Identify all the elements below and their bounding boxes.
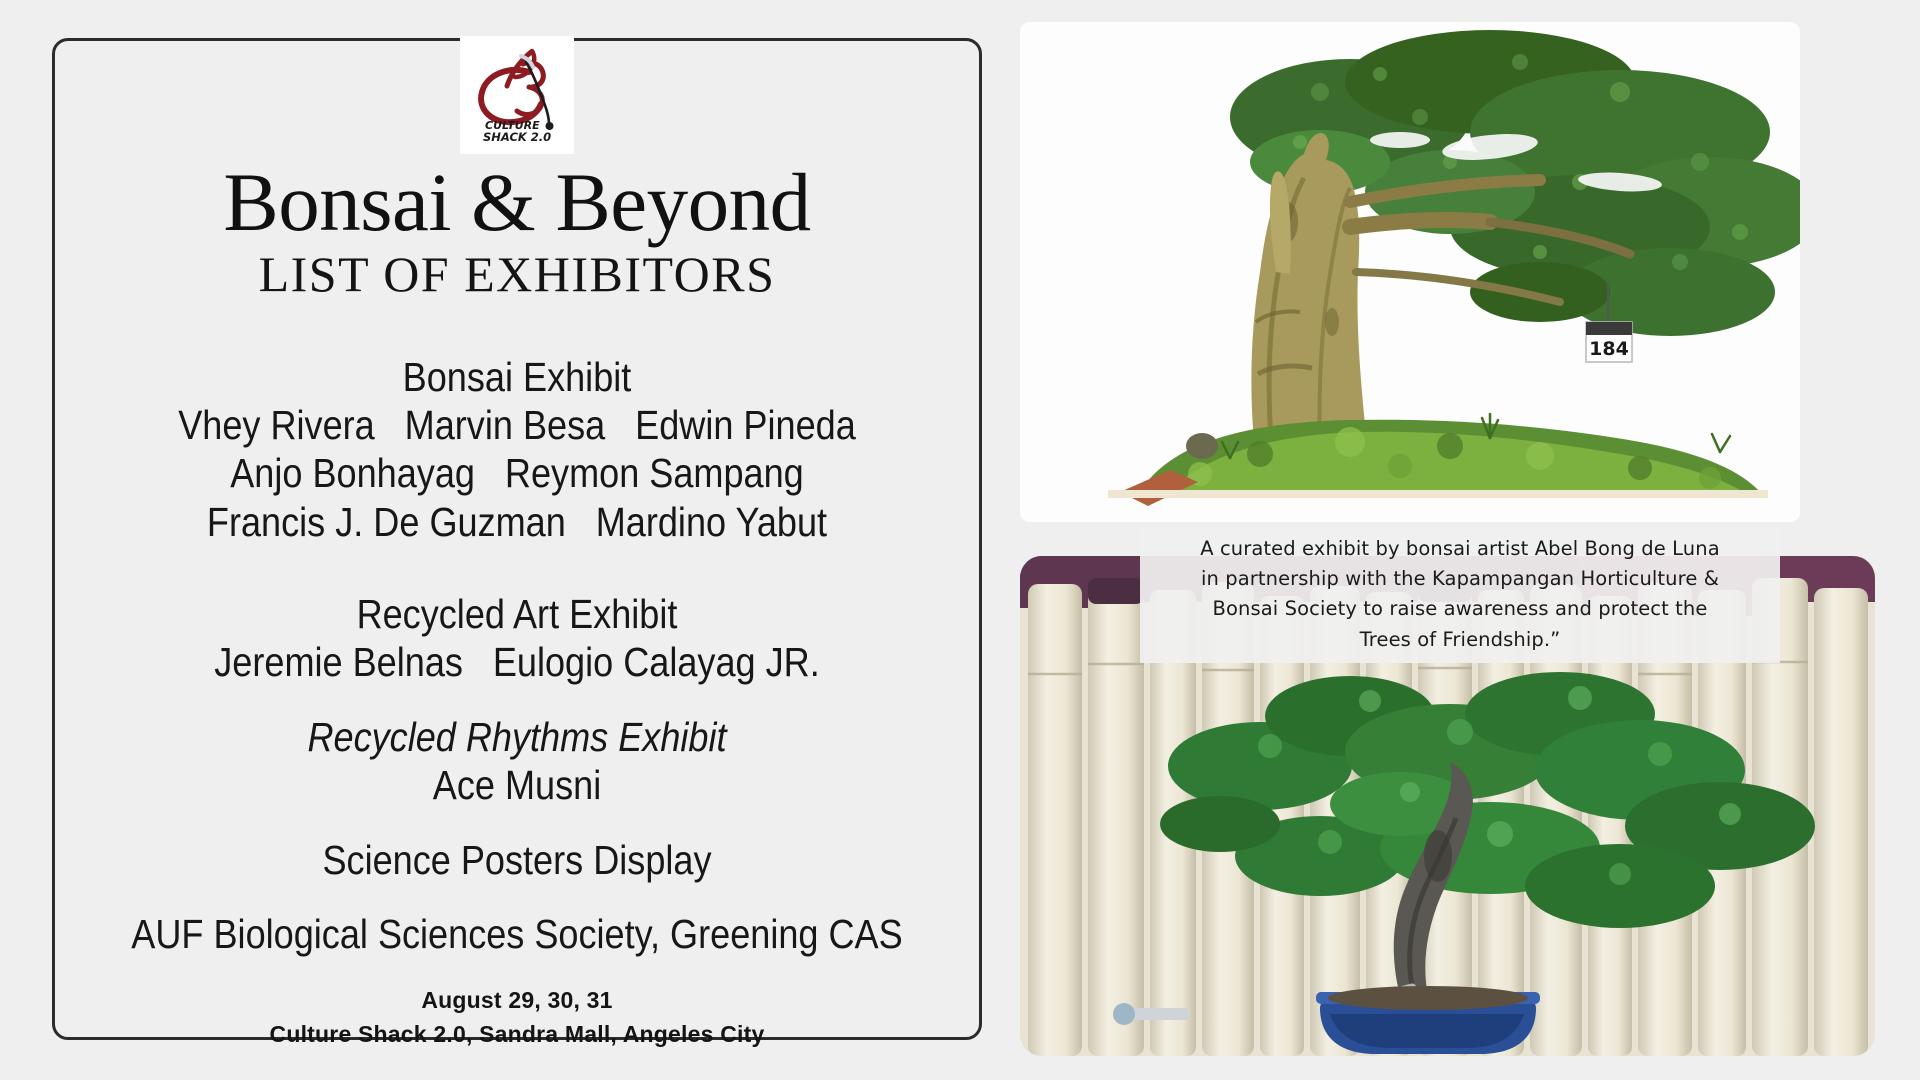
section-bonsai-exhibit: Bonsai Exhibit Vhey RiveraMarvin BesaEdw…: [55, 353, 979, 547]
caption-line: Trees of Friendship.”: [1150, 625, 1770, 655]
exhibit-tag-number: 184: [1589, 338, 1629, 360]
exhibit-tag: 184: [1586, 322, 1632, 362]
exhibitor-name: Reymon Sampang: [505, 450, 804, 496]
exhibitor-name: Francis J. De Guzman: [207, 499, 566, 545]
exhibitor-name: Vhey Rivera: [178, 402, 375, 448]
section-heading: Recycled Rhythms Exhibit: [110, 713, 923, 761]
right-column: 184: [1010, 0, 1920, 1080]
exhibitor-row: Jeremie BelnasEulogio Calayag JR.: [110, 638, 923, 686]
exhibitor-row: Anjo BonhayagReymon Sampang: [110, 449, 923, 497]
left-column: CULTURE SHACK 2.0 Bonsai & Beyond LIST O…: [0, 0, 1010, 1080]
exhibitor-name: Eulogio Calayag JR.: [493, 639, 820, 685]
page-title: Bonsai & Beyond: [55, 161, 979, 244]
event-dates: August 29, 30, 31: [55, 984, 979, 1017]
exhibitor-row: Vhey RiveraMarvin BesaEdwin Pineda: [110, 401, 923, 449]
panel-content: Bonsai & Beyond LIST OF EXHIBITORS Bonsa…: [55, 161, 979, 1051]
exhibitor-name: Mardino Yabut: [596, 499, 827, 545]
exhibitor-name: AUF Biological Sciences Society, Greenin…: [131, 911, 902, 957]
exhibitor-row: Francis J. De GuzmanMardino Yabut: [110, 498, 923, 546]
poster-root: CULTURE SHACK 2.0 Bonsai & Beyond LIST O…: [0, 0, 1920, 1080]
section-recycled-art-exhibit: Recycled Art Exhibit Jeremie BelnasEulog…: [55, 590, 979, 687]
exhibitor-row: Ace Musni: [110, 761, 923, 809]
page-subtitle: LIST OF EXHIBITORS: [55, 248, 979, 301]
exhibitor-name: Ace Musni: [433, 762, 601, 808]
caption-line: in partnership with the Kapampangan Hort…: [1150, 564, 1770, 594]
caption-line: Bonsai Society to raise awareness and pr…: [1150, 594, 1770, 624]
exhibitor-name: Anjo Bonhayag: [230, 450, 475, 496]
section-heading: Bonsai Exhibit: [110, 353, 923, 401]
exhibitor-row: AUF Biological Sciences Society, Greenin…: [110, 910, 923, 958]
bonsai-deadwood-photo: 184: [1020, 22, 1800, 522]
event-venue: Culture Shack 2.0, Sandra Mall, Angeles …: [55, 1018, 979, 1051]
exhibitor-panel: CULTURE SHACK 2.0 Bonsai & Beyond LIST O…: [52, 38, 982, 1040]
culture-shack-2-0-logo: CULTURE SHACK 2.0: [460, 36, 574, 154]
section-heading: Recycled Art Exhibit: [110, 590, 923, 638]
logo-mark-icon: CULTURE SHACK 2.0: [465, 40, 569, 150]
logo-text-shack: SHACK 2.0: [483, 130, 551, 144]
section-recycled-rhythms-exhibit: Recycled Rhythms Exhibit Ace Musni: [55, 713, 979, 810]
exhibit-caption: A curated exhibit by bonsai artist Abel …: [1140, 528, 1780, 663]
section-heading: Science Posters Display: [110, 836, 923, 884]
bonsai-deadwood-illustration: 184: [1020, 22, 1800, 522]
caption-line: A curated exhibit by bonsai artist Abel …: [1150, 534, 1770, 564]
exhibitor-name: Jeremie Belnas: [214, 639, 463, 685]
section-science-posters-display: Science Posters Display AUF Biological S…: [55, 836, 979, 959]
exhibitor-name: Marvin Besa: [405, 402, 606, 448]
exhibitor-name: Edwin Pineda: [635, 402, 856, 448]
